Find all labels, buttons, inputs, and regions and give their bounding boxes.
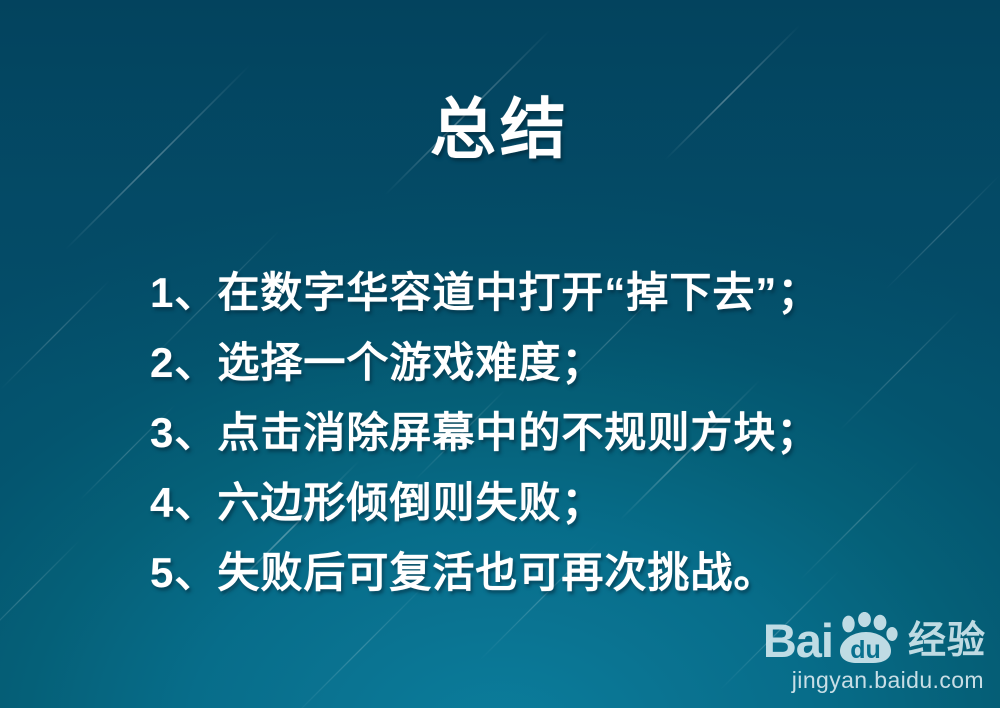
slide-title: 总结 [0, 96, 1000, 162]
watermark-brand-cn: 经验 [908, 618, 986, 664]
presentation-slide: 总结 1、在数字华容道中打开“掉下去”； 2、选择一个游戏难度； 3、点击消除屏… [0, 0, 1000, 708]
svg-text:du: du [850, 636, 881, 664]
bullet-item-1: 1、在数字华容道中打开“掉下去”； [150, 258, 940, 328]
bullet-item-3: 3、点击消除屏幕中的不规则方块； [150, 398, 940, 468]
watermark-brand-prefix: Bai [763, 617, 833, 664]
bullet-item-2: 2、选择一个游戏难度； [150, 328, 940, 398]
watermark-url: jingyan.baidu.com [763, 666, 986, 694]
bullet-item-4: 4、六边形倾倒则失败； [150, 468, 940, 538]
bullet-item-5: 5、失败后可复活也可再次挑战。 [150, 538, 940, 608]
paw-print-icon: du [833, 612, 899, 664]
watermark-logo-row: Bai du 经验 [763, 612, 986, 664]
baidu-jingyan-watermark: Bai du 经验 jingyan.baidu [763, 612, 986, 694]
slide-content: 总结 1、在数字华容道中打开“掉下去”； 2、选择一个游戏难度； 3、点击消除屏… [0, 0, 1000, 708]
summary-bullet-list: 1、在数字华容道中打开“掉下去”； 2、选择一个游戏难度； 3、点击消除屏幕中的… [150, 258, 940, 608]
